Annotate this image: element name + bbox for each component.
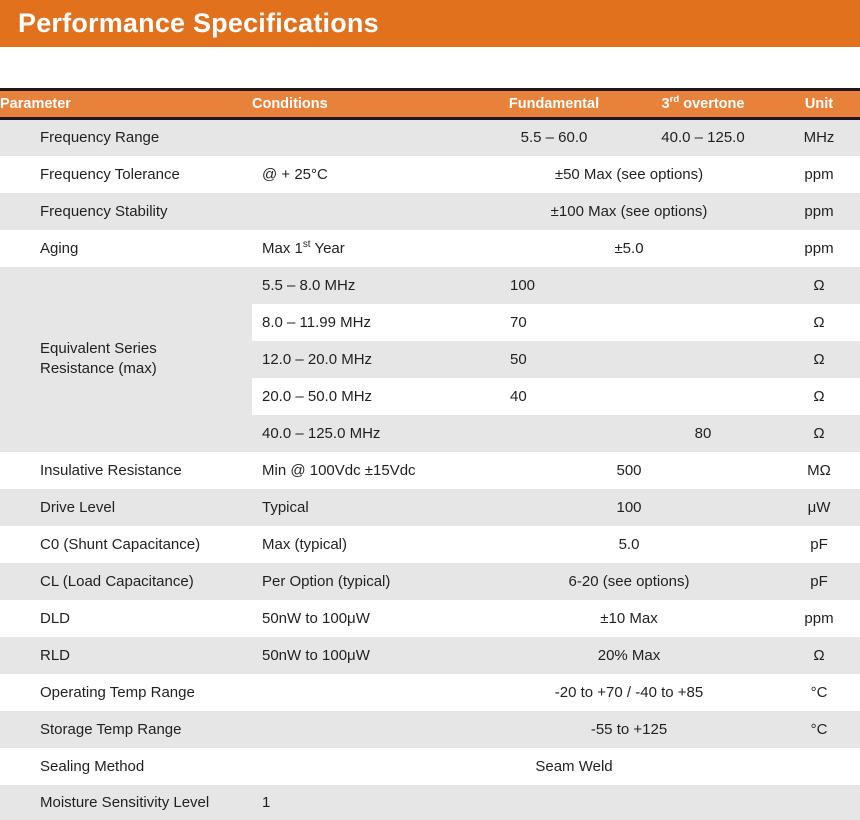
table-row-cl-load-capacitance: CL (Load Capacitance) Per Option (typica… xyxy=(0,563,860,600)
cell-overtone xyxy=(628,378,778,415)
cell-parameter: Storage Temp Range xyxy=(0,711,252,748)
cell-parameter-esr: Equivalent SeriesResistance (max) xyxy=(0,267,252,452)
esr-label-line-2: Resistance (max) xyxy=(40,360,157,377)
page-title: Performance Specifications xyxy=(18,10,379,37)
column-header-conditions: Conditions xyxy=(252,90,480,119)
cell-conditions: 1 xyxy=(252,785,480,820)
overtone-number: 3 xyxy=(662,96,670,112)
cell-unit: ppm xyxy=(778,600,860,637)
cell-unit: °C xyxy=(778,711,860,748)
cell-fundamental: 70 xyxy=(480,304,628,341)
cell-conditions xyxy=(252,674,480,711)
performance-specifications-table: Parameter Conditions Fundamental 3rd ove… xyxy=(0,88,860,820)
cell-span-value: ±100 Max (see options) xyxy=(480,193,778,230)
cell-parameter: Sealing Method xyxy=(0,748,252,785)
table-row-moisture-sensitivity-level: Moisture Sensitivity Level 1 xyxy=(0,785,860,820)
table-row-frequency-stability: Frequency Stability ±100 Max (see option… xyxy=(0,193,860,230)
table-row-c0-shunt-capacitance: C0 (Shunt Capacitance) Max (typical) 5.0… xyxy=(0,526,860,563)
cell-conditions xyxy=(252,119,480,156)
cell-unit: Ω xyxy=(778,267,860,304)
cell-conditions xyxy=(252,711,480,748)
aging-ordinal-suffix: st xyxy=(303,239,311,250)
cell-unit: MHz xyxy=(778,119,860,156)
cell-conditions: @ + 25°C xyxy=(252,156,480,193)
cell-conditions: Min @ 100Vdc ±15Vdc xyxy=(252,452,480,489)
banner-spacer xyxy=(0,47,860,88)
cell-parameter: Frequency Stability xyxy=(0,193,252,230)
table-row-esr-1: Equivalent SeriesResistance (max) 5.5 – … xyxy=(0,267,860,304)
cell-conditions: 50nW to 100μW xyxy=(252,600,480,637)
cell-span-value: -20 to +70 / -40 to +85 xyxy=(480,674,778,711)
cell-span-value: ±5.0 xyxy=(480,230,778,267)
cell-parameter: Insulative Resistance xyxy=(0,452,252,489)
cell-parameter: Operating Temp Range xyxy=(0,674,252,711)
cell-unit: ppm xyxy=(778,156,860,193)
cell-conditions: 8.0 – 11.99 MHz xyxy=(252,304,480,341)
cell-unit: Ω xyxy=(778,341,860,378)
table-header-row: Parameter Conditions Fundamental 3rd ove… xyxy=(0,90,860,119)
cell-overtone: 40.0 – 125.0 xyxy=(628,119,778,156)
cell-conditions: 5.5 – 8.0 MHz xyxy=(252,267,480,304)
cell-fundamental: 50 xyxy=(480,341,628,378)
cell-unit: ppm xyxy=(778,193,860,230)
cell-span-value: 6-20 (see options) xyxy=(480,563,778,600)
cell-parameter: C0 (Shunt Capacitance) xyxy=(0,526,252,563)
cell-conditions xyxy=(252,193,480,230)
cell-fundamental: 5.5 – 60.0 xyxy=(480,119,628,156)
cell-span-value: 5.0 xyxy=(480,526,778,563)
cell-parameter: Aging xyxy=(0,230,252,267)
cell-span-value xyxy=(480,785,778,820)
cell-conditions: 20.0 – 50.0 MHz xyxy=(252,378,480,415)
cell-unit xyxy=(778,748,860,785)
cell-unit: Ω xyxy=(778,304,860,341)
cell-conditions: 50nW to 100μW xyxy=(252,637,480,674)
cell-conditions: Max 1st Year xyxy=(252,230,480,267)
cell-conditions: Typical xyxy=(252,489,480,526)
cell-span-value: 20% Max xyxy=(480,637,778,674)
cell-span-value: -55 to +125 xyxy=(480,711,778,748)
column-header-overtone: 3rd overtone xyxy=(628,90,778,119)
cell-conditions: Max (typical) xyxy=(252,526,480,563)
cell-span-value: 100 xyxy=(480,489,778,526)
cell-parameter: CL (Load Capacitance) xyxy=(0,563,252,600)
cell-overtone xyxy=(628,304,778,341)
table-row-frequency-range: Frequency Range 5.5 – 60.0 40.0 – 125.0 … xyxy=(0,119,860,156)
cell-overtone xyxy=(628,341,778,378)
cell-span-value: Seam Weld xyxy=(252,748,778,785)
esr-label-line-1: Equivalent Series xyxy=(40,340,157,357)
cell-span-value: ±50 Max (see options) xyxy=(480,156,778,193)
cell-unit xyxy=(778,785,860,820)
column-header-fundamental: Fundamental xyxy=(480,90,628,119)
cell-unit: °C xyxy=(778,674,860,711)
table-row-sealing-method: Sealing Method Seam Weld xyxy=(0,748,860,785)
page-title-banner: Performance Specifications xyxy=(0,0,860,47)
table-header: Parameter Conditions Fundamental 3rd ove… xyxy=(0,90,860,119)
cell-conditions: Per Option (typical) xyxy=(252,563,480,600)
cell-fundamental: 40 xyxy=(480,378,628,415)
aging-max-prefix: Max 1 xyxy=(262,240,303,257)
cell-unit: ppm xyxy=(778,230,860,267)
cell-unit: Ω xyxy=(778,637,860,674)
cell-span-value: ±10 Max xyxy=(480,600,778,637)
cell-parameter: Frequency Range xyxy=(0,119,252,156)
cell-overtone xyxy=(628,267,778,304)
table-row-storage-temp-range: Storage Temp Range -55 to +125 °C xyxy=(0,711,860,748)
cell-parameter: Moisture Sensitivity Level xyxy=(0,785,252,820)
table-row-insulative-resistance: Insulative Resistance Min @ 100Vdc ±15Vd… xyxy=(0,452,860,489)
cell-unit: Ω xyxy=(778,415,860,452)
cell-conditions: 12.0 – 20.0 MHz xyxy=(252,341,480,378)
table-row-drive-level: Drive Level Typical 100 μW xyxy=(0,489,860,526)
table-body: Frequency Range 5.5 – 60.0 40.0 – 125.0 … xyxy=(0,119,860,820)
table-row-frequency-tolerance: Frequency Tolerance @ + 25°C ±50 Max (se… xyxy=(0,156,860,193)
table-row-operating-temp-range: Operating Temp Range -20 to +70 / -40 to… xyxy=(0,674,860,711)
cell-unit: pF xyxy=(778,563,860,600)
cell-conditions: 40.0 – 125.0 MHz xyxy=(252,415,480,452)
cell-unit: Ω xyxy=(778,378,860,415)
overtone-word: overtone xyxy=(679,96,744,112)
column-header-unit: Unit xyxy=(778,90,860,119)
table-row-rld: RLD 50nW to 100μW 20% Max Ω xyxy=(0,637,860,674)
table-row-aging: Aging Max 1st Year ±5.0 ppm xyxy=(0,230,860,267)
aging-year-word: Year xyxy=(311,240,345,257)
cell-fundamental: 100 xyxy=(480,267,628,304)
cell-span-value: 500 xyxy=(480,452,778,489)
cell-fundamental xyxy=(480,415,628,452)
cell-parameter: Drive Level xyxy=(0,489,252,526)
cell-parameter: DLD xyxy=(0,600,252,637)
cell-unit: MΩ xyxy=(778,452,860,489)
cell-overtone: 80 xyxy=(628,415,778,452)
cell-unit: μW xyxy=(778,489,860,526)
overtone-ordinal-suffix: rd xyxy=(670,94,680,105)
table-row-dld: DLD 50nW to 100μW ±10 Max ppm xyxy=(0,600,860,637)
column-header-parameter: Parameter xyxy=(0,90,252,119)
cell-parameter: Frequency Tolerance xyxy=(0,156,252,193)
cell-parameter: RLD xyxy=(0,637,252,674)
cell-unit: pF xyxy=(778,526,860,563)
